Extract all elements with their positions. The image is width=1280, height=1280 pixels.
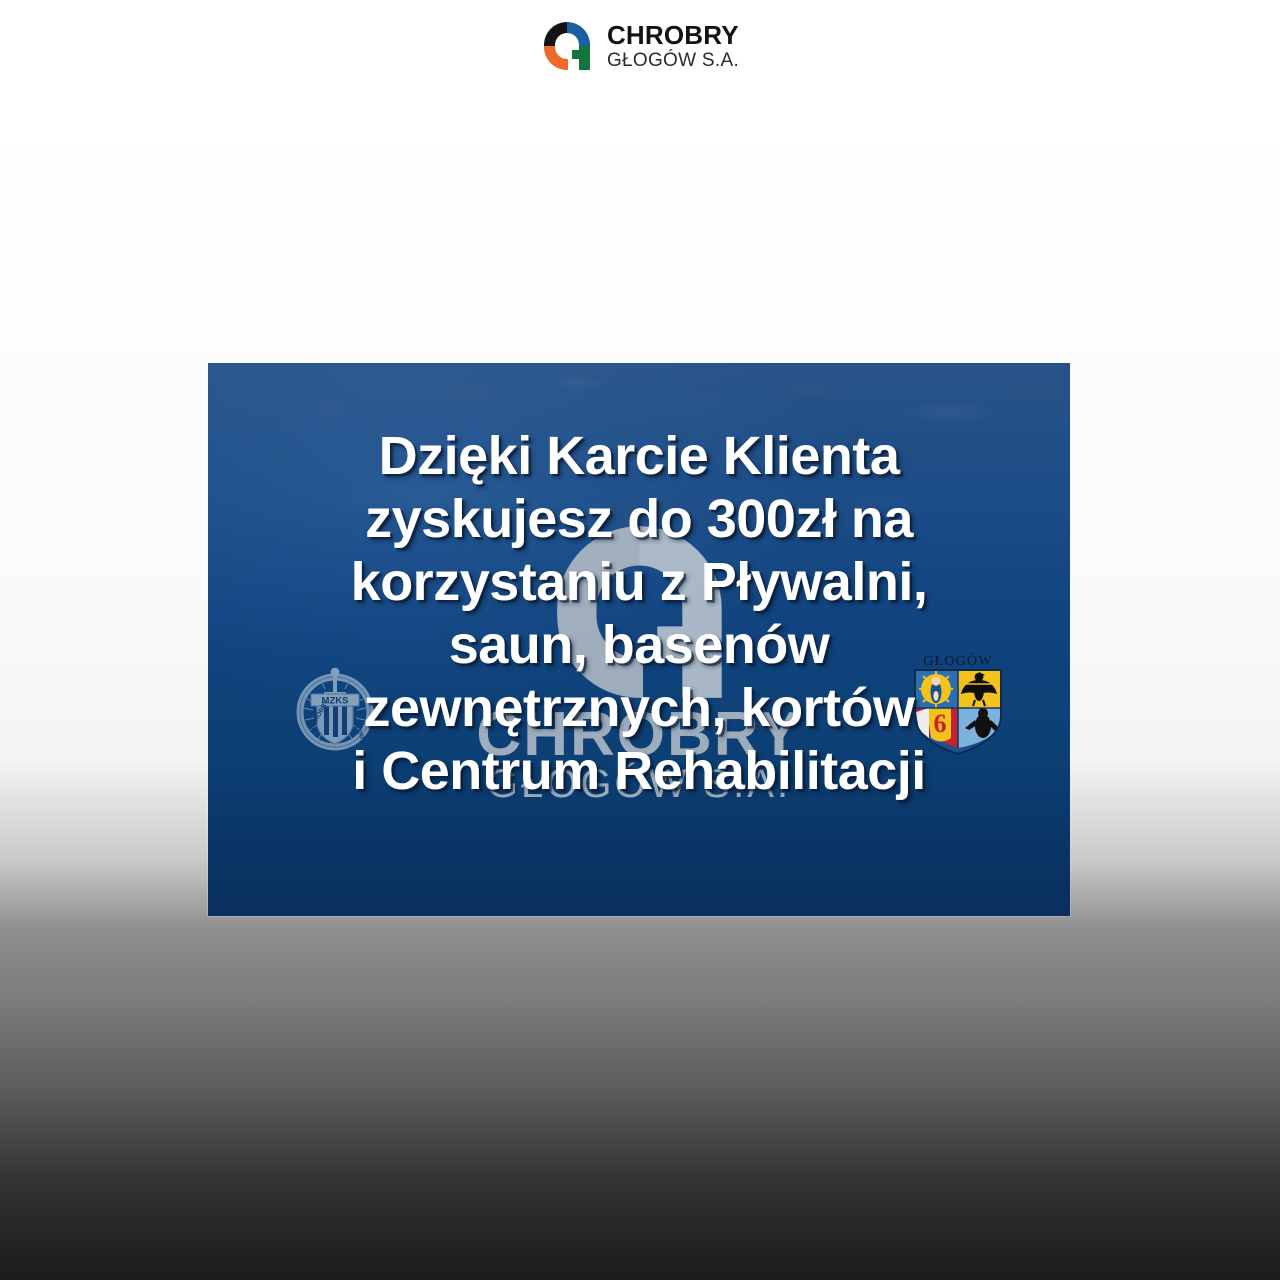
brand-wordmark: CHROBRY GŁOGÓW S.A. [607,22,739,70]
promo-card: CHROBRY GŁOGÓW S.A. [208,363,1070,916]
header-logo: CHROBRY GŁOGÓW S.A. [0,10,1280,82]
chrobry-cg-quadrant-logo-icon [541,19,593,73]
brand-name-secondary: GŁOGÓW S.A. [607,51,739,70]
promo-headline: Dzięki Karcie Klienta zyskujesz do 300zł… [208,425,1070,802]
brand-name-primary: CHROBRY [607,22,739,48]
